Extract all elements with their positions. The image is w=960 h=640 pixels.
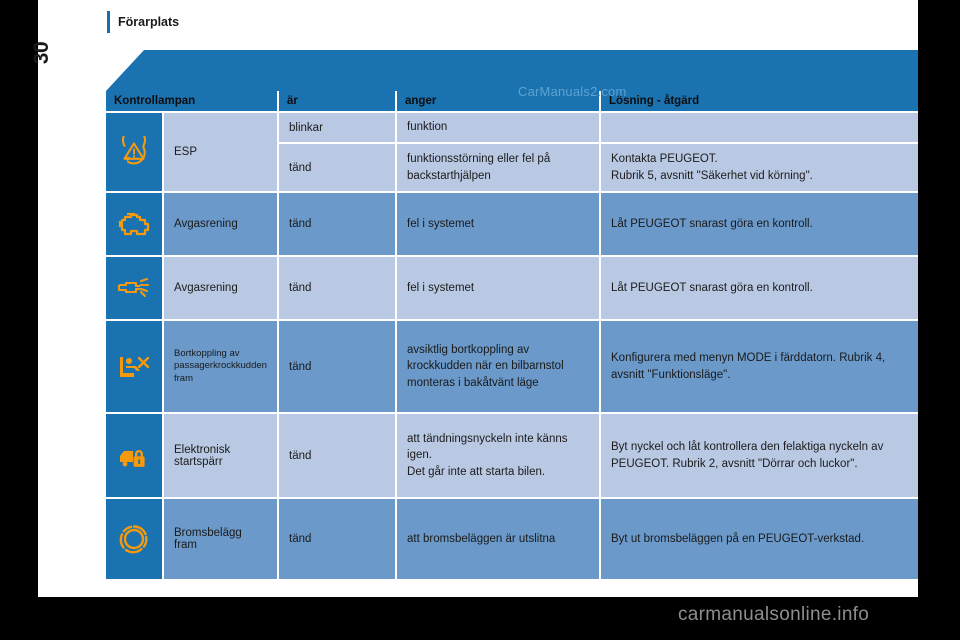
lamp-name: ESP: [164, 113, 279, 193]
lamp-fix: Låt PEUGEOT snarast göra en kontroll.: [601, 257, 955, 321]
lamp-meaning: avsiktlig bortkoppling av krockkudden nä…: [397, 321, 601, 414]
lamp-state: tänd: [279, 321, 397, 414]
lamp-fix: Konfigurera med menyn MODE i färddatorn.…: [601, 321, 955, 414]
text-line: monteras i bakåtvänt läge: [407, 375, 589, 391]
lamp-state: tänd: [279, 499, 397, 581]
header-losning-atgard: Lösning - åtgärd: [601, 91, 955, 113]
esp-triangle-icon: [106, 113, 164, 193]
lamp-state: tänd: [279, 257, 397, 321]
lamp-fix: [601, 113, 955, 144]
table-header-row: Kontrollampan är anger Lösning - åtgärd: [106, 91, 955, 113]
text-line: Byt nyckel och låt kontrollera den felak…: [611, 439, 945, 455]
lamp-meaning: att bromsbeläggen är utslitna: [397, 499, 601, 581]
watermark-bottom: carmanualsonline.info: [678, 604, 869, 626]
text-line: Bortkoppling av: [174, 348, 267, 360]
lamp-meaning: funktion: [397, 113, 601, 144]
text-line: Elektronisk: [174, 444, 267, 456]
text-line: avsnitt "Funktionsläge".: [611, 367, 945, 383]
document-page: Förarplats CarManuals2.com Kontrollampan…: [38, 0, 918, 597]
text-line: funktionsstörning eller fel på: [407, 151, 589, 167]
text-line: att tändningsnyckeln inte känns: [407, 431, 589, 447]
engine-icon: [106, 193, 164, 257]
header-kontrollampan: Kontrollampan: [106, 91, 279, 113]
lamp-name: Avgasrening: [164, 257, 279, 321]
lamp-state: tänd: [279, 193, 397, 257]
table-row: Avgasrening tänd fel i systemet Låt PEUG…: [106, 193, 955, 257]
text-line: igen.: [407, 447, 589, 463]
running-head: Förarplats: [107, 10, 179, 34]
table-row: Bromsbelägg fram tänd att bromsbeläggen …: [106, 499, 955, 581]
table-row: ESP blinkar funktion: [106, 113, 955, 144]
text-line: Kontakta PEUGEOT.: [611, 151, 945, 167]
table-row: Bortkoppling av passagerkrockkudden fram…: [106, 321, 955, 414]
text-line: Bromsbelägg: [174, 527, 267, 539]
header-ar: är: [279, 91, 397, 113]
lamp-state: tänd: [279, 414, 397, 499]
text-line: backstarthjälpen: [407, 168, 589, 184]
lamp-meaning: funktionsstörning eller fel på backstart…: [397, 144, 601, 193]
text-line: startspärr: [174, 456, 267, 468]
lamp-name: Bortkoppling av passagerkrockkudden fram: [164, 321, 279, 414]
text-line: avsiktlig bortkoppling av: [407, 342, 589, 358]
lamp-fix: Kontakta PEUGEOT. Rubrik 5, avsnitt "Säk…: [601, 144, 955, 193]
page-number: 30: [19, 33, 65, 73]
lamp-name: Elektronisk startspärr: [164, 414, 279, 499]
text-line: fram: [174, 539, 267, 551]
lamp-meaning: att tändningsnyckeln inte känns igen. De…: [397, 414, 601, 499]
exhaust-icon: [106, 257, 164, 321]
warning-lamps-table: Kontrollampan är anger Lösning - åtgärd: [106, 91, 955, 581]
lamp-meaning: fel i systemet: [397, 257, 601, 321]
immobilizer-lock-icon: [106, 414, 164, 499]
lamp-state: blinkar: [279, 113, 397, 144]
lamp-fix: Byt ut bromsbeläggen på en PEUGEOT-verks…: [601, 499, 955, 581]
text-line: PEUGEOT. Rubrik 2, avsnitt "Dörrar och l…: [611, 456, 945, 472]
page-gutter-right: [918, 0, 960, 597]
lamp-fix: Låt PEUGEOT snarast göra en kontroll.: [601, 193, 955, 257]
lamp-fix: Byt nyckel och låt kontrollera den felak…: [601, 414, 955, 499]
airbag-off-icon: [106, 321, 164, 414]
lamp-state: tänd: [279, 144, 397, 193]
table-row: Avgasrening tänd fel i systemet Låt PEUG…: [106, 257, 955, 321]
text-line: krockkudden när en bilbarnstol: [407, 358, 589, 374]
running-head-label: Förarplats: [118, 15, 179, 29]
lamp-meaning: fel i systemet: [397, 193, 601, 257]
header-anger: anger: [397, 91, 601, 113]
text-line: Rubrik 5, avsnitt "Säkerhet vid körning"…: [611, 168, 945, 184]
table-row: Elektronisk startspärr tänd att tändning…: [106, 414, 955, 499]
text-line: fram: [174, 373, 267, 385]
text-line: Det går inte att starta bilen.: [407, 464, 589, 480]
lamp-name: Bromsbelägg fram: [164, 499, 279, 581]
text-line: passagerkrockkudden: [174, 360, 267, 372]
running-head-accent-bar: [107, 11, 110, 33]
section-banner: [106, 50, 955, 91]
brake-pad-icon: [106, 499, 164, 581]
text-line: Konfigurera med menyn MODE i färddatorn.…: [611, 350, 945, 366]
lamp-name: Avgasrening: [164, 193, 279, 257]
